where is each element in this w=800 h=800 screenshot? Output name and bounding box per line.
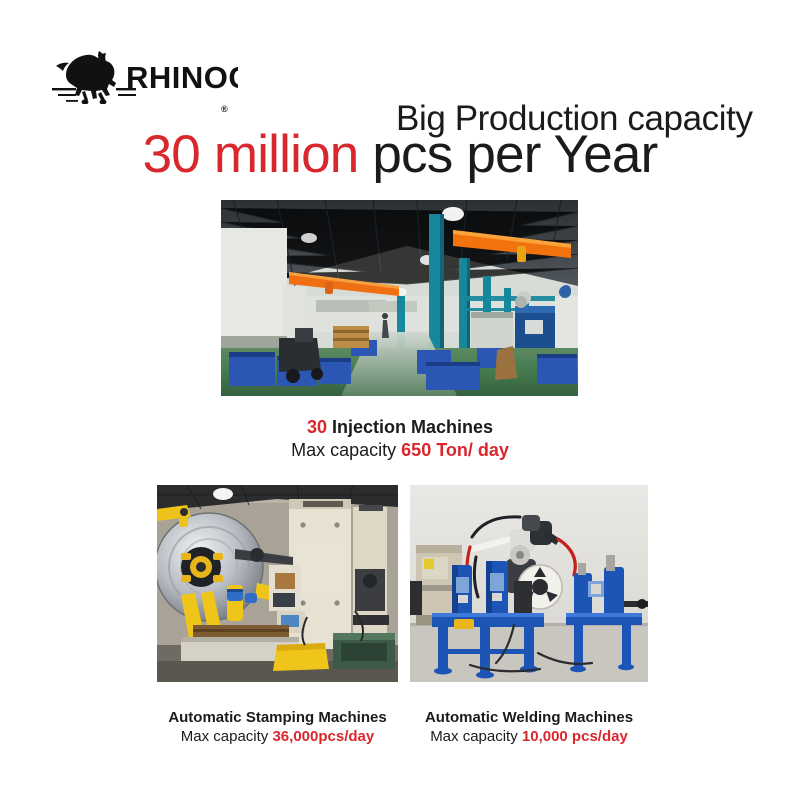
injection-caption-line1: 30 Injection Machines	[0, 416, 800, 439]
stamping-capacity-value: 36,000pcs/day	[272, 728, 374, 745]
welding-machine-photo	[410, 485, 648, 682]
welding-caption-line1-text: Automatic Welding Machines	[425, 709, 633, 726]
capacity-statement-accent: 30 million	[143, 125, 359, 184]
injection-caption-line2: Max capacity 650 Ton/ day	[0, 439, 800, 462]
injection-caption-label: Max capacity	[291, 440, 401, 460]
poster-canvas: RHINOCEROS ® Big Production capacity 30 …	[0, 0, 800, 800]
injection-caption-line1-text: Injection Machines	[327, 417, 493, 437]
injection-caption: 30 Injection Machines Max capacity 650 T…	[0, 416, 800, 462]
stamping-caption-line2: Max capacity 36,000pcs/day	[157, 727, 398, 746]
stamping-caption-line1: Automatic Stamping Machines	[157, 708, 398, 727]
stamping-machine-photo	[157, 485, 398, 682]
stamping-caption-label: Max capacity	[181, 728, 273, 745]
header: RHINOCEROS ® Big Production capacity	[0, 44, 800, 110]
welding-caption: Automatic Welding Machines Max capacity …	[410, 708, 648, 746]
welding-caption-line1: Automatic Welding Machines	[410, 708, 648, 727]
rhinoceros-logo: RHINOCEROS	[38, 44, 238, 104]
injection-capacity-value: 650 Ton/ day	[401, 440, 509, 460]
registered-trademark-symbol: ®	[221, 105, 228, 114]
stamping-caption: Automatic Stamping Machines Max capacity…	[157, 708, 398, 746]
injection-machine-count: 30	[307, 417, 327, 437]
capacity-statement-plain: pcs per Year	[358, 125, 657, 184]
svg-text:RHINOCEROS: RHINOCEROS	[126, 60, 238, 95]
welding-caption-label: Max capacity	[430, 728, 522, 745]
welding-capacity-value: 10,000 pcs/day	[522, 728, 628, 745]
factory-interior-photo	[221, 200, 578, 396]
welding-caption-line2: Max capacity 10,000 pcs/day	[410, 727, 648, 746]
capacity-statement: 30 million pcs per Year	[0, 126, 800, 184]
stamping-caption-line1-text: Automatic Stamping Machines	[168, 709, 386, 726]
